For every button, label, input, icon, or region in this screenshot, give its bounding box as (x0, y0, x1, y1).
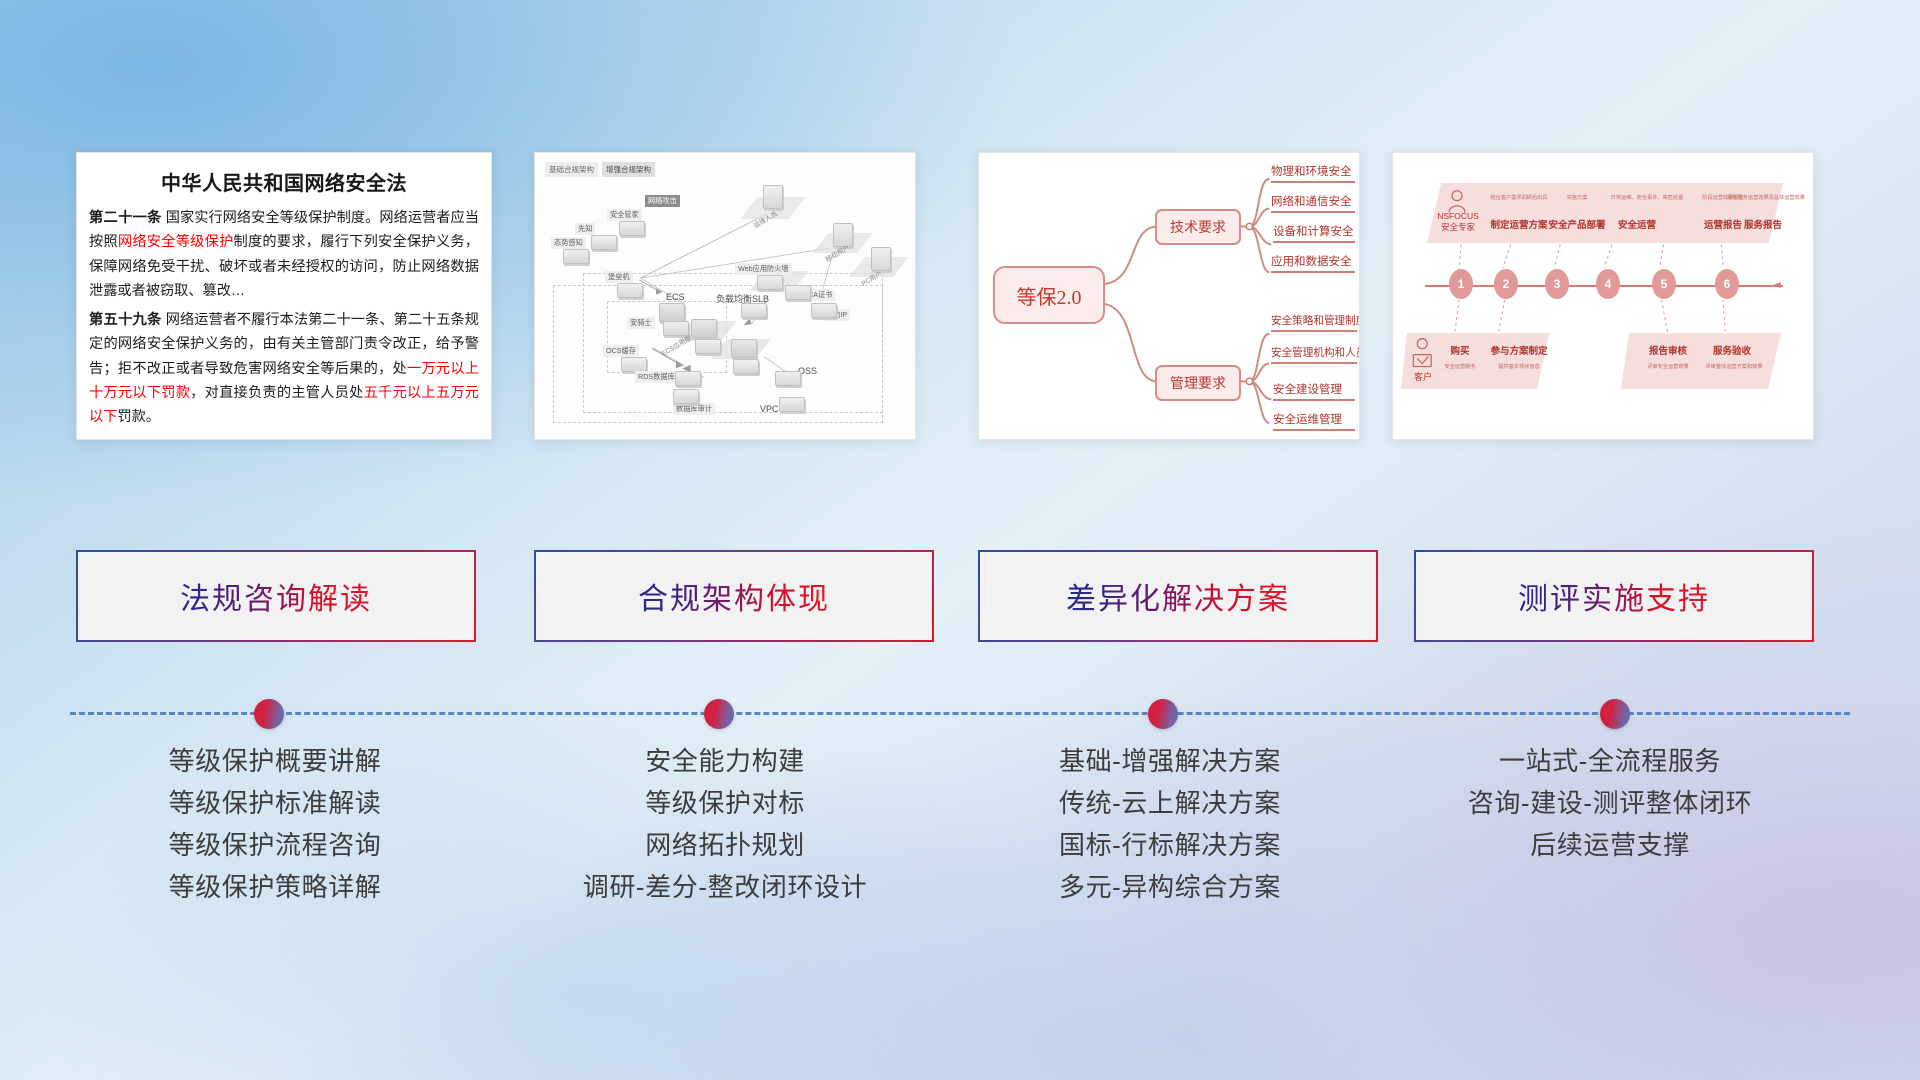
process-step-sub: 评审整体运营方案和效果 (1697, 363, 1771, 370)
process-step-title: 购买 (1439, 343, 1481, 357)
heading-inner: 合规架构体现 (536, 552, 931, 639)
arch-label-bastion: 堡垒机 (605, 271, 633, 283)
arch-node (741, 303, 767, 318)
list-item: 咨询-建设-测评整体闭环 (1468, 782, 1753, 824)
mindmap-leaf: 设备和计算安全 (1273, 223, 1355, 245)
arch-node (779, 397, 805, 412)
process-step-title: 服务报告 (1733, 217, 1793, 231)
mindmap-leaf: 应用和数据安全 (1271, 253, 1355, 275)
timeline-dot-1[interactable] (254, 699, 284, 729)
process-step-sub: 实施方案 (1551, 194, 1603, 201)
arch-label-anqishi: 安骑士 (627, 317, 655, 329)
heading-label: 合规架构体现 (638, 574, 830, 618)
law-title: 中华人民共和国网络安全法 (77, 153, 491, 206)
heading-box-3[interactable]: 差异化解决方案 (978, 550, 1378, 642)
mindmap-root: 等保2.0 (993, 266, 1105, 324)
process-step-title: 参与方案制定 (1481, 343, 1557, 357)
process-step-sub: 评审安全运营效果 (1633, 363, 1703, 370)
feature-list-4: 一站式-全流程服务 咨询-建设-测评整体闭环 后续运营支撑 (1395, 740, 1825, 866)
process-step-sub: 提供基本现状信息 (1487, 363, 1551, 370)
list-item: 后续运营支撑 (1530, 824, 1690, 866)
list-item: 网络拓扑规划 (645, 824, 805, 866)
mindmap-leaf: 安全策略和管理制度 (1271, 313, 1357, 334)
process-step-dot: 4 (1596, 269, 1620, 299)
heading-label: 测评实施支持 (1518, 574, 1710, 618)
heading-inner: 差异化解决方案 (980, 552, 1375, 639)
list-item: 基础-增强解决方案 (1059, 740, 1281, 782)
process-step-sub: 安全运营服务 (1433, 363, 1487, 370)
heading-label: 差异化解决方案 (1066, 574, 1290, 618)
process-step-title: 服务验收 (1703, 343, 1761, 357)
arch-label-ocs-cache: OCS缓存 (603, 345, 639, 357)
mindmap-collapse-tech (1246, 223, 1252, 229)
mindmap-branch-management[interactable]: 管理要求 (1155, 365, 1241, 401)
process-step-sub: 总结服务运营效果及总体运营效果 (1719, 194, 1813, 201)
law-run-highlight: 网络安全等级保护 (118, 234, 234, 250)
arch-node (563, 249, 589, 264)
timeline-dashed-line (70, 712, 1850, 715)
process-canvas: 1 2 3 4 5 6 NSFOCUS 安全专家 客户 结合客户需求调研后出具 … (1393, 153, 1813, 439)
list-item: 一站式-全流程服务 (1499, 740, 1721, 782)
arch-node (757, 275, 783, 290)
heading-inner: 测评实施支持 (1416, 552, 1811, 639)
timeline-dot-2[interactable] (704, 699, 734, 729)
arch-node (659, 303, 685, 322)
timeline-dot-3[interactable] (1148, 699, 1178, 729)
arch-node (617, 283, 643, 298)
heading-label: 法规咨询解读 (180, 574, 372, 618)
card-architecture-diagram[interactable]: 基础合规架构 增强合规架构 (534, 152, 916, 440)
arch-node (691, 319, 717, 338)
process-step-dot: 2 (1494, 269, 1518, 299)
arch-node (731, 339, 757, 358)
feature-list-3: 基础-增强解决方案 传统-云上解决方案 国标-行标解决方案 多元-异构综合方案 (955, 740, 1385, 908)
heading-box-1[interactable]: 法规咨询解读 (76, 550, 476, 642)
heading-inner: 法规咨询解读 (78, 552, 473, 639)
process-brand-name: NSFOCUS (1435, 211, 1481, 221)
arch-node (733, 359, 759, 374)
process-customer-label: 客户 (1407, 370, 1439, 383)
mindmap-leaf: 网络和通信安全 (1271, 193, 1355, 215)
arch-node (763, 185, 783, 209)
process-step-dot: 5 (1652, 269, 1676, 299)
list-item: 多元-异构综合方案 (1059, 866, 1281, 908)
arch-node (675, 371, 701, 386)
law-article-label: 第五十九条 (89, 312, 162, 328)
arch-label-db-audit: 数据库审计 (673, 403, 715, 415)
arch-node (619, 221, 645, 236)
arch-label-xianzhi: 先知 (575, 223, 595, 235)
list-item: 等级保护对标 (645, 782, 805, 824)
list-item: 传统-云上解决方案 (1059, 782, 1281, 824)
feature-list-1: 等级保护概要讲解 等级保护标准解读 等级保护流程咨询 等级保护策略详解 (60, 740, 490, 908)
arch-node (621, 357, 647, 372)
process-brand-sub: 安全专家 (1435, 221, 1481, 233)
mindmap-leaf: 安全建设管理 (1273, 381, 1355, 403)
arch-node (811, 303, 837, 318)
heading-box-2[interactable]: 合规架构体现 (534, 550, 934, 642)
law-run: ，对直接负责的主管人员处 (190, 385, 363, 401)
process-brand: NSFOCUS 安全专家 (1435, 211, 1481, 233)
feature-lists: 等级保护概要讲解 等级保护标准解读 等级保护流程咨询 等级保护策略详解 安全能力… (0, 740, 1920, 980)
arch-label-rds: RDS数据库 (635, 371, 678, 383)
law-article-label: 第二十一条 (89, 210, 162, 226)
arch-label-vpc: VPC (757, 403, 782, 415)
arch-label-waf: Web应用防火墙 (735, 263, 792, 275)
process-step-dot: 3 (1545, 269, 1569, 299)
timeline-dot-4[interactable] (1600, 699, 1630, 729)
slide-canvas: 中华人民共和国网络安全法 第二十一条 国家实行网络安全等级保护制度。网络运营者应… (0, 0, 1920, 1080)
mindmap-leaf: 安全运维管理 (1273, 411, 1355, 433)
arch-node (785, 285, 811, 300)
process-step-sub: 结合客户需求调研后出具 (1483, 194, 1555, 201)
headings-row: 法规咨询解读 合规架构体现 差异化解决方案 测评实施支持 (0, 550, 1920, 650)
list-item: 等级保护标准解读 (169, 782, 382, 824)
mindmap-canvas: 等保2.0 技术要求 管理要求 物理和环境安全 网络和通信安全 设备和计算安全 … (979, 153, 1359, 439)
process-step-title: 报告审核 (1639, 343, 1697, 357)
list-item: 调研-差分-整改闭环设计 (583, 866, 868, 908)
list-item: 安全能力构建 (645, 740, 805, 782)
preview-cards-row: 中华人民共和国网络安全法 第二十一条 国家实行网络安全等级保护制度。网络运营者应… (0, 152, 1920, 442)
arch-node (591, 235, 617, 250)
law-body: 第二十一条 国家实行网络安全等级保护制度。网络运营者应当按照网络安全等级保护制度… (77, 206, 491, 430)
heading-box-4[interactable]: 测评实施支持 (1414, 550, 1814, 642)
arch-label-attack: 网络攻击 (645, 195, 680, 207)
list-item: 国标-行标解决方案 (1059, 824, 1281, 866)
mindmap-leaf: 物理和环境安全 (1271, 163, 1355, 185)
mindmap-branch-technical[interactable]: 技术要求 (1155, 209, 1241, 245)
process-step-title: 安全运营 (1607, 217, 1667, 231)
arch-node (673, 389, 699, 404)
feature-list-2: 安全能力构建 等级保护对标 网络拓扑规划 调研-差分-整改闭环设计 (510, 740, 940, 908)
process-step-title: 安全产品部署 (1539, 217, 1615, 231)
arch-label-security-butler: 安全管家 (607, 209, 642, 221)
arch-node (775, 371, 801, 386)
process-step-dot: 6 (1715, 269, 1739, 299)
process-step-sub: 日常运维、安全事件、高危处置 (1597, 194, 1697, 201)
arch-label-situation-awareness: 态势感知 (551, 237, 586, 249)
card-process-timeline[interactable]: 1 2 3 4 5 6 NSFOCUS 安全专家 客户 结合客户需求调研后出具 … (1392, 152, 1814, 440)
mindmap-collapse-mgmt (1246, 378, 1252, 384)
list-item: 等级保护流程咨询 (169, 824, 382, 866)
timeline (0, 694, 1920, 734)
architecture-canvas: 基础合规架构 增强合规架构 (535, 153, 915, 439)
law-paragraph: 第五十九条 网络运营者不履行本法第二十一条、第二十五条规定的网络安全保护义务的，… (89, 308, 479, 430)
process-step-dot: 1 (1449, 269, 1473, 299)
card-mindmap[interactable]: 等保2.0 技术要求 管理要求 物理和环境安全 网络和通信安全 设备和计算安全 … (978, 152, 1360, 440)
arch-label-ecs: ECS (663, 291, 688, 303)
mindmap-leaf: 安全管理机构和人员 (1271, 345, 1357, 366)
list-item: 等级保护策略详解 (169, 866, 382, 908)
law-paragraph: 第二十一条 国家实行网络安全等级保护制度。网络运营者应当按照网络安全等级保护制度… (89, 206, 479, 304)
arch-node (695, 339, 721, 354)
law-run: 罚款。 (117, 409, 160, 425)
card-law-text[interactable]: 中华人民共和国网络安全法 第二十一条 国家实行网络安全等级保护制度。网络运营者应… (76, 152, 492, 440)
list-item: 等级保护概要讲解 (169, 740, 382, 782)
